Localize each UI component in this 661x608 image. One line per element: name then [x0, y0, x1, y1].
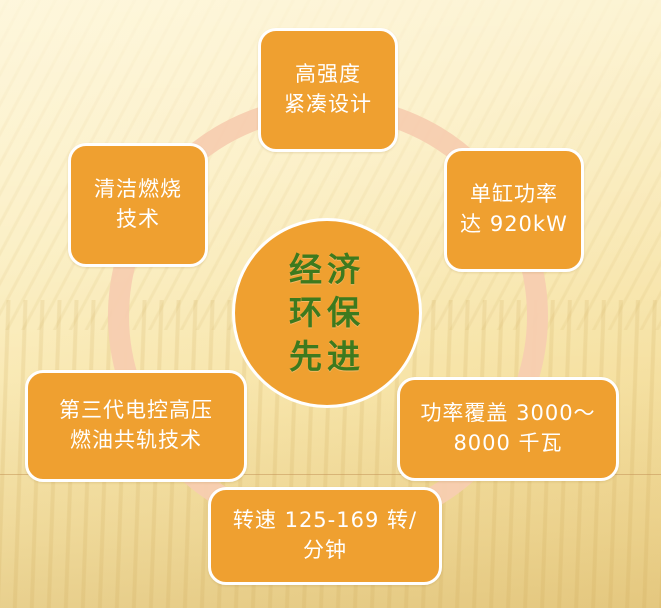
node-label: 高强度 紧凑设计 — [284, 60, 372, 120]
node-label: 转速 125-169 转/ 分钟 — [233, 506, 417, 566]
slide-canvas: 高强度 紧凑设计 清洁燃烧 技术 单缸功率 达 920kW 第三代电控高压 燃油… — [0, 0, 661, 608]
node-high-strength-compact-design[interactable]: 高强度 紧凑设计 — [258, 28, 398, 152]
node-label: 清洁燃烧 技术 — [94, 175, 182, 235]
center-hub[interactable]: 经济 环保 先进 — [232, 218, 422, 408]
node-clean-combustion-technology[interactable]: 清洁燃烧 技术 — [68, 143, 208, 267]
node-label: 第三代电控高压 燃油共轨技术 — [59, 396, 213, 456]
node-label: 单缸功率 达 920kW — [460, 180, 568, 240]
center-hub-line-3: 先进 — [289, 335, 365, 379]
node-rotation-speed-range[interactable]: 转速 125-169 转/ 分钟 — [208, 487, 442, 585]
center-hub-line-1: 经济 — [289, 248, 365, 292]
node-label: 功率覆盖 3000～ 8000 千瓦 — [420, 399, 595, 459]
node-power-coverage-range[interactable]: 功率覆盖 3000～ 8000 千瓦 — [397, 377, 619, 481]
center-hub-line-2: 环保 — [289, 291, 365, 335]
node-third-gen-common-rail[interactable]: 第三代电控高压 燃油共轨技术 — [25, 370, 247, 482]
node-single-cylinder-power[interactable]: 单缸功率 达 920kW — [444, 148, 584, 272]
